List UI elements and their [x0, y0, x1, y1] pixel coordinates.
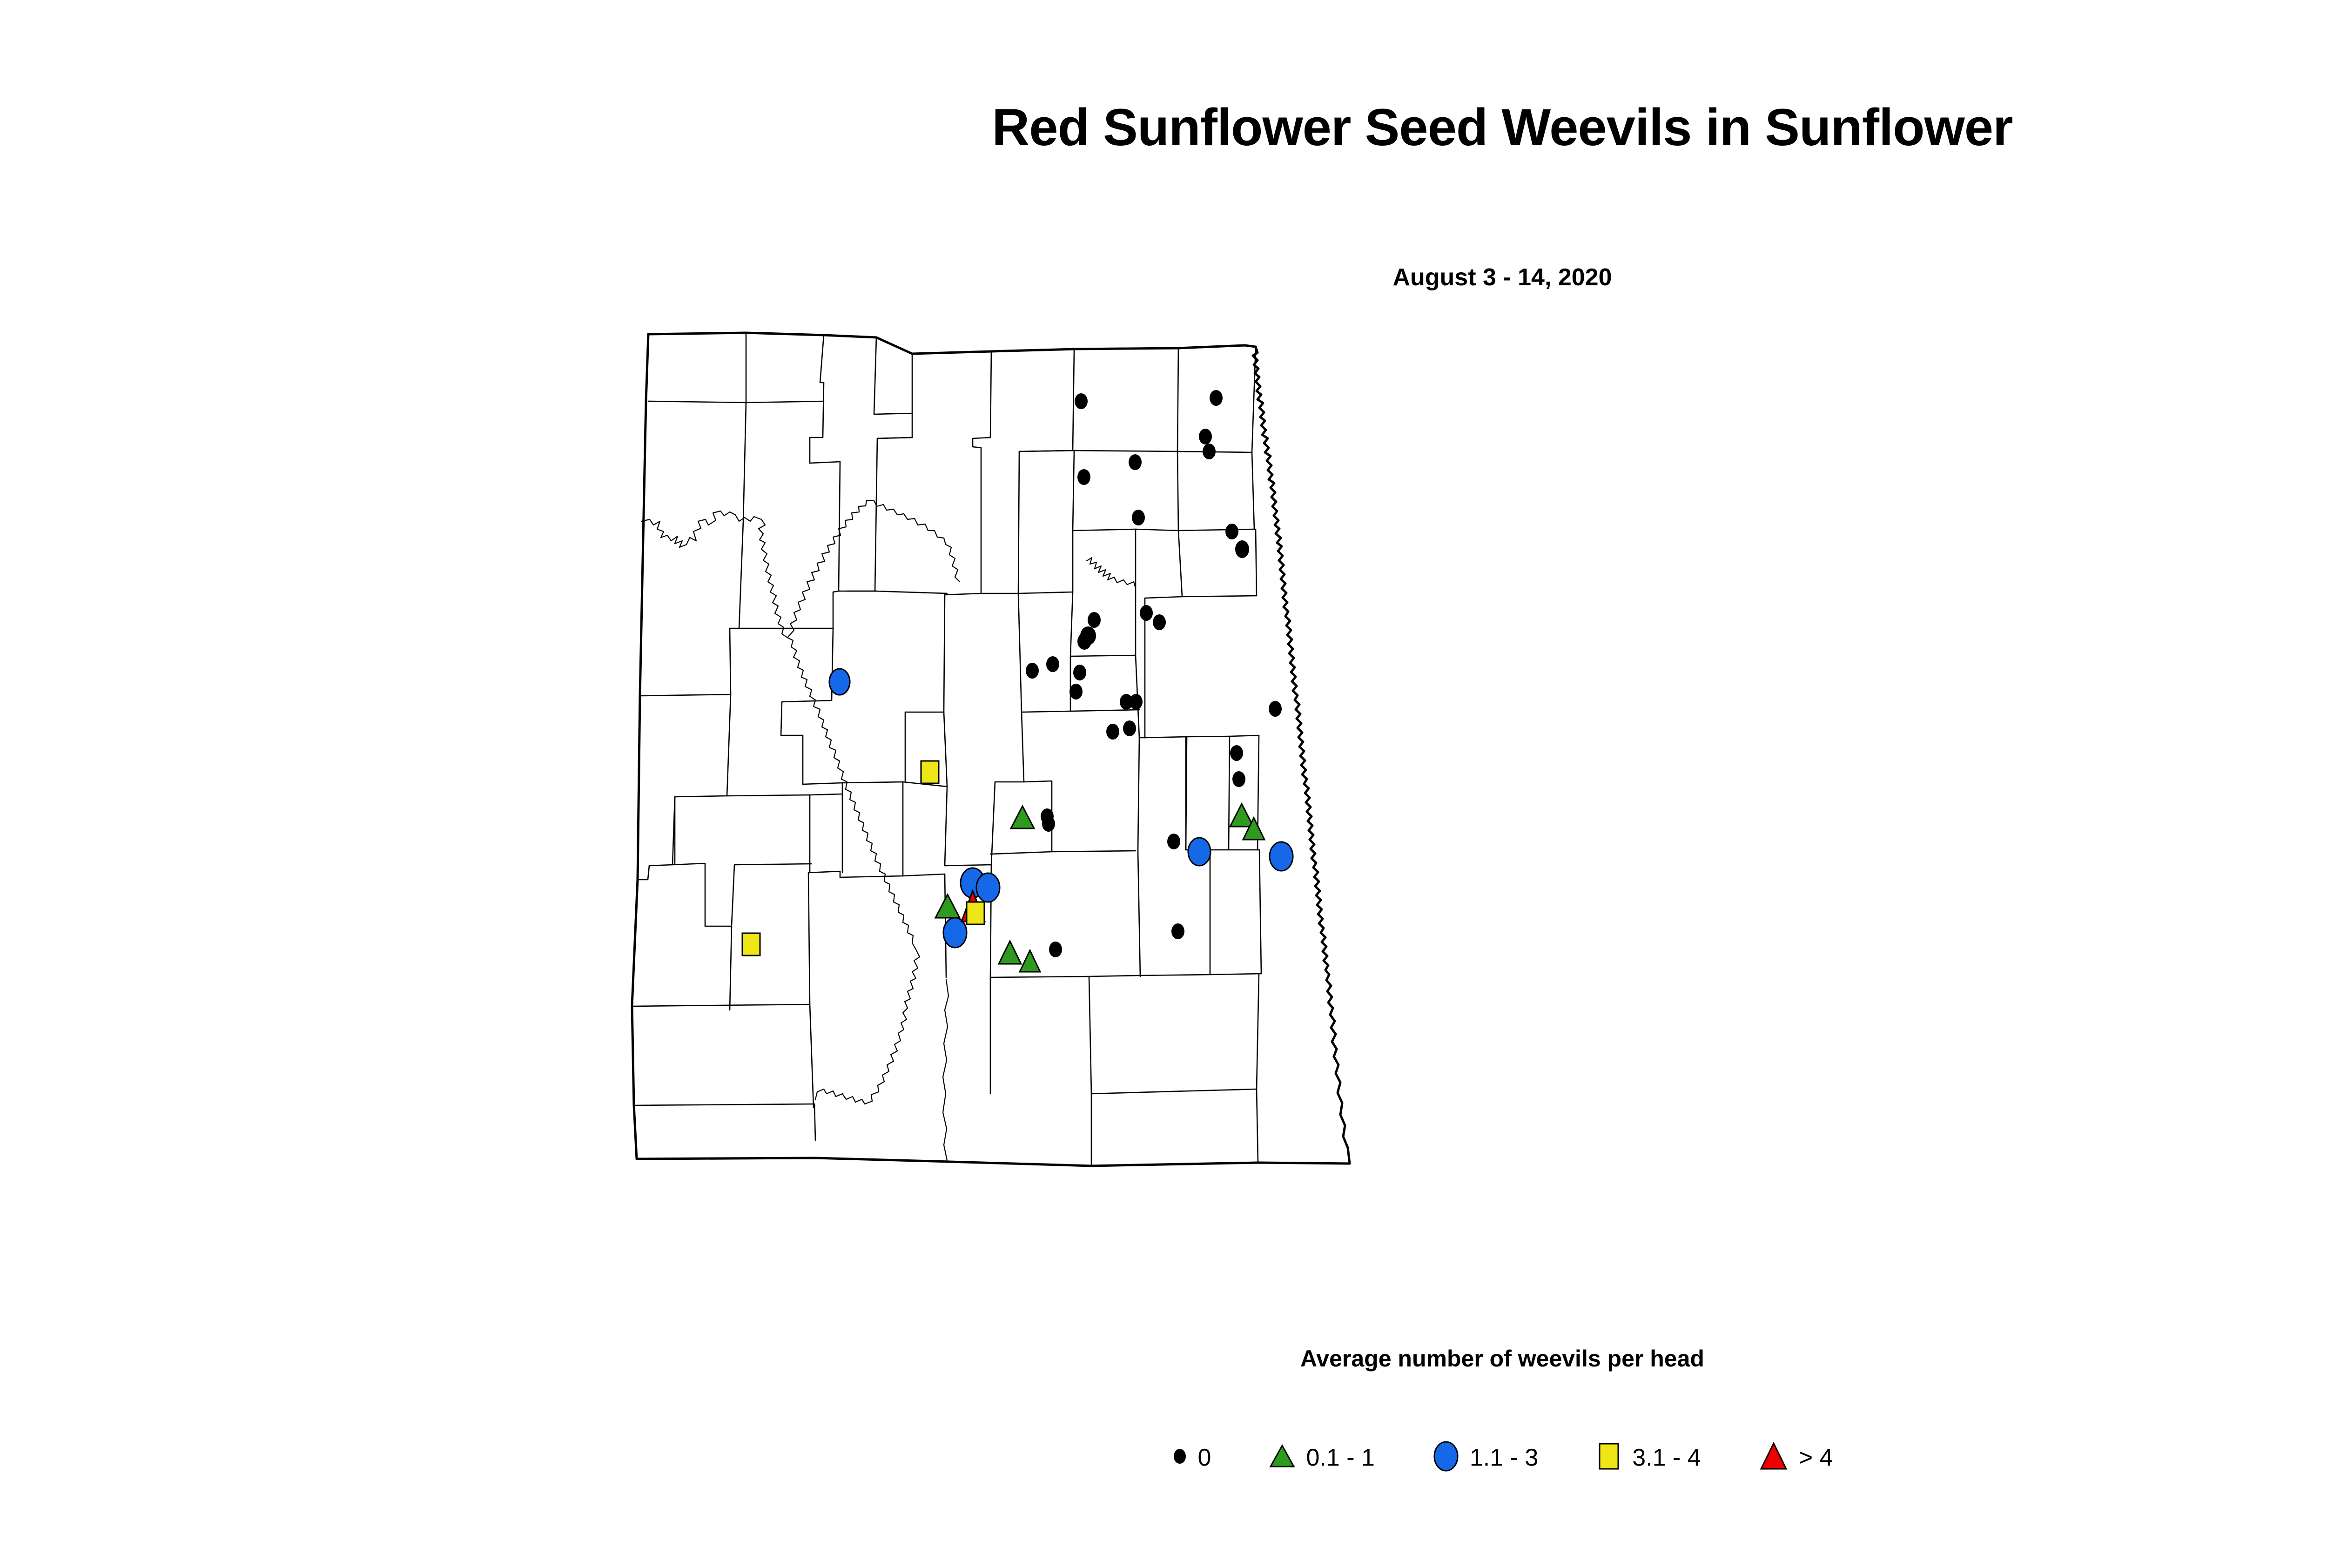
marker-point — [1075, 393, 1088, 409]
marker-point — [1225, 524, 1238, 539]
marker-square — [967, 902, 984, 924]
marker-point — [1069, 684, 1083, 700]
marker-point — [1230, 745, 1243, 761]
marker-circle — [1270, 842, 1293, 871]
marker-point — [1269, 701, 1282, 717]
legend-item-1[interactable]: 0.1 - 1 — [1269, 1443, 1374, 1472]
marker-point — [1077, 633, 1091, 650]
county-boundaries — [632, 333, 1261, 1166]
marker-point — [1132, 510, 1145, 525]
marker-point — [1199, 429, 1212, 444]
marker-point — [1153, 614, 1166, 630]
red-triangle-icon — [1759, 1441, 1789, 1474]
marker-point — [1123, 720, 1136, 736]
marker-triangle — [1011, 806, 1034, 828]
legend-label: 0.1 - 1 — [1306, 1446, 1374, 1470]
marker-circle — [829, 669, 850, 695]
marker-triangle — [1020, 950, 1040, 972]
legend-label: > 4 — [1799, 1446, 1833, 1470]
legend-label: 3.1 - 4 — [1632, 1446, 1701, 1470]
page-subtitle: August 3 - 14, 2020 — [0, 265, 2327, 289]
marker-group-yellow — [742, 761, 939, 956]
legend-item-4[interactable]: > 4 — [1759, 1441, 1833, 1474]
marker-point — [1026, 663, 1039, 679]
legend-label: 1.1 - 3 — [1470, 1446, 1538, 1470]
blue-circle-icon — [1433, 1440, 1459, 1474]
marker-point — [1235, 540, 1249, 558]
marker-point — [1073, 665, 1086, 680]
marker-point — [1167, 834, 1180, 849]
marker-triangle — [999, 941, 1021, 964]
legend-item-3[interactable]: 3.1 - 4 — [1596, 1441, 1701, 1474]
marker-point — [1140, 605, 1153, 621]
marker-square — [742, 933, 760, 956]
marker-point — [1088, 612, 1101, 628]
marker-point — [1077, 469, 1090, 485]
figure-canvas: Red Sunflower Seed Weevils in Sunflower … — [0, 0, 2327, 1568]
water-features — [641, 500, 1136, 1163]
marker-triangle — [1230, 804, 1253, 827]
page-title: Red Sunflower Seed Weevils in Sunflower — [0, 101, 2327, 154]
legend-title: Average number of weevils per head — [0, 1345, 2327, 1372]
black-circle-icon — [1172, 1447, 1188, 1468]
marker-point — [1171, 923, 1184, 939]
marker-point — [1232, 771, 1245, 787]
marker-point — [1049, 942, 1062, 957]
marker-point — [1129, 454, 1142, 470]
north-dakota-county-map[interactable] — [605, 303, 2280, 1303]
legend-label: 0 — [1198, 1446, 1211, 1470]
map-svg — [605, 303, 2280, 1303]
marker-point — [1106, 724, 1119, 740]
marker-point — [1046, 656, 1059, 672]
marker-point — [1210, 390, 1223, 406]
marker-point — [1042, 816, 1055, 832]
green-triangle-icon — [1269, 1443, 1296, 1472]
marker-point — [1130, 694, 1143, 710]
marker-square — [921, 761, 939, 783]
marker-circle — [943, 918, 967, 948]
legend-item-0[interactable]: 0 — [1172, 1446, 1211, 1470]
marker-group-zero — [1026, 390, 1282, 957]
legend: 0 0.1 - 1 1.1 - 3 3.1 - 4 > 4 — [0, 1440, 2327, 1474]
marker-circle — [976, 873, 1000, 902]
marker-circle — [1188, 838, 1211, 866]
yellow-square-icon — [1596, 1441, 1622, 1474]
legend-item-2[interactable]: 1.1 - 3 — [1433, 1440, 1538, 1474]
marker-triangle — [935, 895, 960, 918]
marker-point — [1203, 444, 1216, 459]
